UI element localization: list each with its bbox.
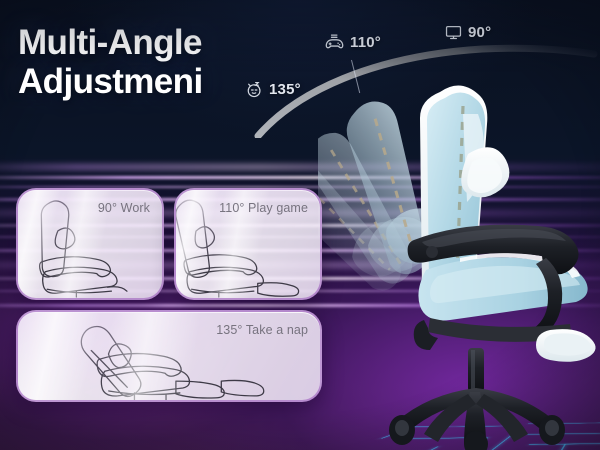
angle-marker-110: 110° xyxy=(324,32,381,53)
angle-arc xyxy=(250,18,600,138)
angle-marker-90-label: 90° xyxy=(468,24,491,41)
angle-marker-135: 135° xyxy=(245,80,301,99)
chair-gas-cylinder xyxy=(468,348,484,392)
panel-110-play-game-label: 110° Play game xyxy=(219,201,308,215)
armrest-pivot xyxy=(426,246,438,258)
angle-marker-135-label: 135° xyxy=(269,81,301,98)
panel-90-work[interactable]: 90° Work xyxy=(16,188,164,300)
angle-arc-group: 135° 110° 90° xyxy=(250,18,600,138)
panel-110-play-game[interactable]: 110° Play game xyxy=(174,188,322,300)
sleeping-face-icon xyxy=(245,80,264,99)
promo-image-canvas: Multi-Angle Adjustmeni xyxy=(0,0,600,450)
panel-135-take-a-nap[interactable]: 135° Take a nap xyxy=(16,310,322,402)
monitor-icon xyxy=(444,23,463,42)
gamepad-icon xyxy=(324,32,345,53)
headline-line-1: Multi-Angle xyxy=(18,23,202,62)
angle-marker-90: 90° xyxy=(444,23,491,42)
headline-line-2: Adjustmeni xyxy=(18,63,203,102)
angle-marker-110-label: 110° xyxy=(350,34,381,51)
panel-90-work-label: 90° Work xyxy=(98,201,150,215)
page-title: Multi-Angle Adjustmeni xyxy=(18,24,203,101)
panel-135-take-a-nap-label: 135° Take a nap xyxy=(216,323,308,337)
